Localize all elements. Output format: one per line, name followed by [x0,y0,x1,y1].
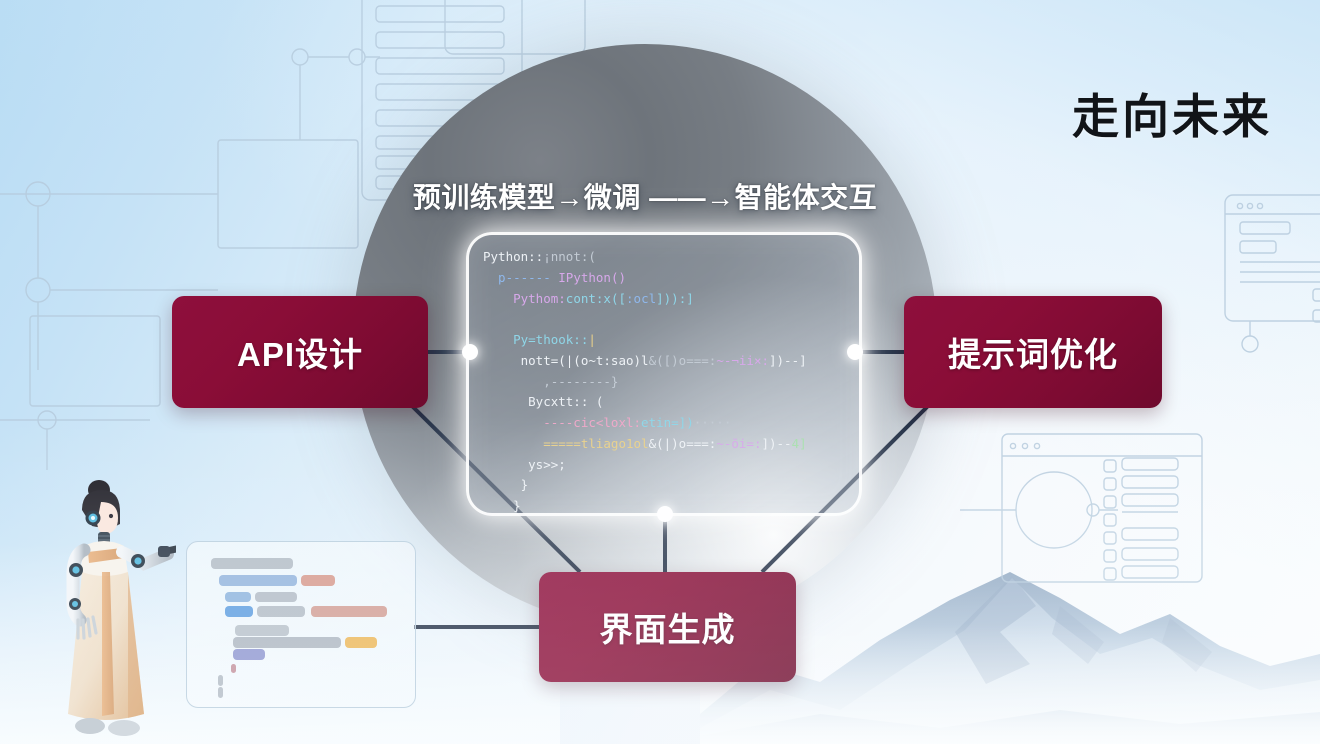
node-ui-generation[interactable]: 界面生成 [539,572,796,682]
code-line: ----cic<loxl:etin=])····· [483,413,851,434]
code-token: =====tliago1ol [483,436,649,451]
code-token: :ocl [626,291,656,306]
panel-bar [311,606,387,617]
panel-bar [255,592,297,602]
flow-title: 预训练模型→微调 ——→智能体交互 [353,176,937,216]
node-prompt-optimization[interactable]: 提示词优化 [904,296,1162,408]
code-content: Python::¡nnot:( p------ IPython() Pythom… [483,247,851,516]
connector-dot-bottom [657,506,673,522]
code-line: p------ IPython() [483,268,851,289]
panel-bar [219,575,297,586]
code-token: Py=thook:: [483,332,588,347]
code-token: ])):] [656,291,694,306]
code-token: ~-¬ii×: [716,353,769,368]
code-token: ¡nnot:( [543,249,596,264]
code-token: &([)o===: [649,353,717,368]
connector-dot-left [462,344,478,360]
panel-bar [235,625,289,636]
code-line: nott=(|(o~t:sao)l&([)o===:~-¬ii×:])--] [483,351,851,372]
panel-bar [211,558,293,569]
panel-bar [345,637,377,648]
code-token: | [588,332,596,347]
code-token: ~-õi=: [716,436,761,451]
code-token: etin=]) [641,415,694,430]
code-token: IPython() [558,270,626,285]
panel-bar [225,606,253,617]
node-prompt-optimization-label: 提示词优化 [948,328,1118,376]
node-api-design-label: API设计 [237,328,363,376]
code-line: } [483,475,851,496]
code-token: Pythom: [483,291,566,306]
panel-bar [218,675,223,686]
code-line: Pythom:cont:x([:ocl])):] [483,289,851,310]
code-token: ----cic<loxl: [483,415,641,430]
page-title: 走向未来 [1072,78,1272,147]
code-line: Py=thook::| [483,330,851,351]
code-token: 4] [792,436,807,451]
panel-bar [301,575,335,586]
code-card: Python::¡nnot:( p------ IPython() Pythom… [466,232,862,516]
panel-bar [233,637,341,648]
ui-wireframe-panel [186,541,416,708]
slide-canvas: 预训练模型→微调 ——→智能体交互 Python::¡nnot:( p-----… [0,0,1320,744]
code-token: p------ [483,270,558,285]
code-token: ,--------} [483,374,618,389]
code-token: &(|)o===: [649,436,717,451]
node-api-design[interactable]: API设计 [172,296,428,408]
code-line: ,--------} [483,372,851,393]
code-token: ····· [694,415,732,430]
node-ui-generation-label: 界面生成 [600,603,736,651]
code-token: Python:: [483,249,543,264]
code-line: Bycxtt:: ( [483,392,851,413]
code-token: ])--] [769,353,807,368]
code-line: ys>>; [483,455,851,476]
panel-bar [225,592,251,602]
connector-dot-right [847,344,863,360]
code-line [483,309,851,330]
code-line: =====tliago1ol&(|)o===:~-õi=:])--4] [483,434,851,455]
code-token: Bycxtt:: ( [483,394,603,409]
hanfu-robot-figure [58,478,176,744]
panel-bar [231,664,236,673]
code-token: nott=(|(o~t:sao)l [483,353,649,368]
code-token: } [483,498,521,513]
code-token: cont:x([ [566,291,626,306]
code-token: ])-- [761,436,791,451]
panel-bar [218,687,223,698]
code-token: } [483,477,528,492]
code-token: ys>>; [483,457,566,472]
panel-bar [233,649,265,660]
code-line: Python::¡nnot:( [483,247,851,268]
panel-bar [257,606,305,617]
